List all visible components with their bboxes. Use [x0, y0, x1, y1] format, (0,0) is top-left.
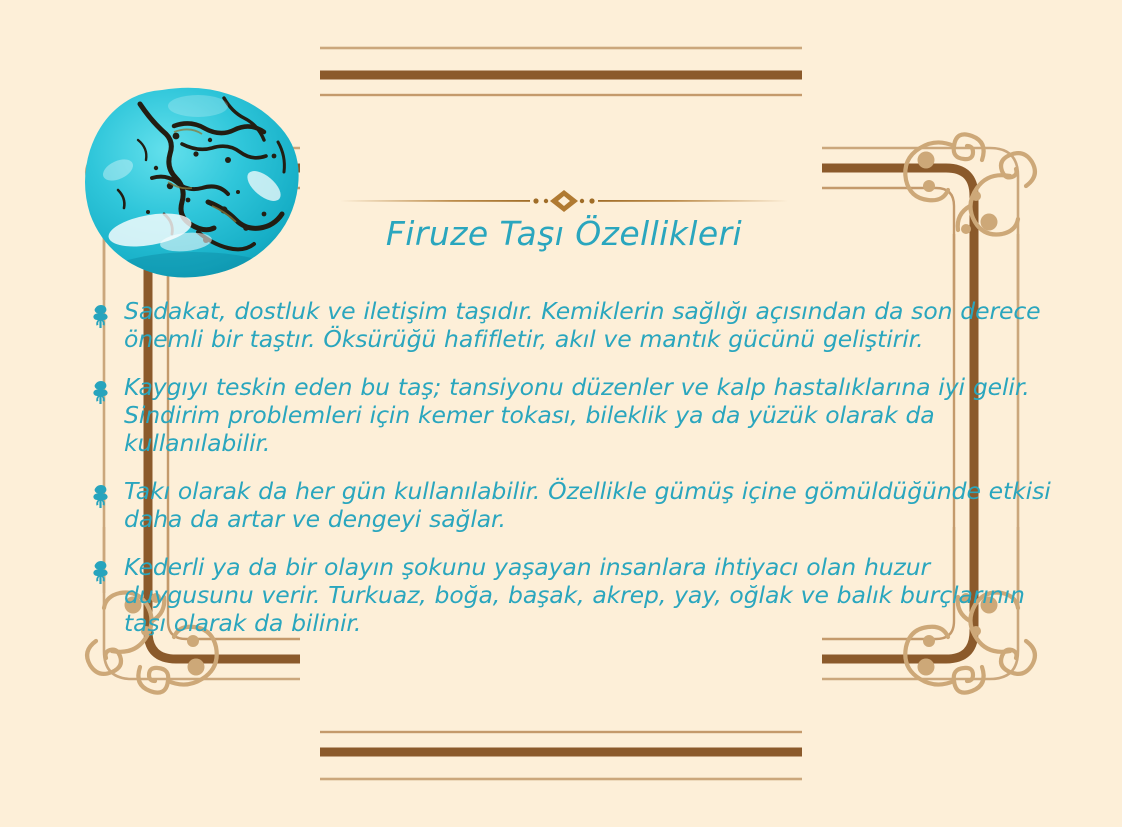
list-item-text: Takı olarak da her gün kullanılabilir. Ö…: [124, 478, 1058, 534]
list-item-text: Kaygıyı teskin eden bu taş; tansiyonu dü…: [124, 374, 1058, 458]
fleur-de-lis-icon: [88, 380, 114, 406]
firuze-stone-image: [78, 82, 310, 284]
info-card: Firuze Taşı Özellikleri Sadakat, dostluk…: [0, 0, 1122, 827]
list-item: Sadakat, dostluk ve iletişim taşıdır. Ke…: [88, 298, 1058, 354]
corner-ornament-top-right: [822, 134, 1035, 300]
list-item: Kederli ya da bir olayın şokunu yaşayan …: [88, 554, 1058, 638]
fleur-de-lis-icon: [88, 560, 114, 586]
list-item: Kaygıyı teskin eden bu taş; tansiyonu dü…: [88, 374, 1058, 458]
list-item-text: Kederli ya da bir olayın şokunu yaşayan …: [124, 554, 1058, 638]
fleur-de-lis-icon: [88, 484, 114, 510]
diamond-divider-ornament: [330, 188, 798, 214]
title-block: Firuze Taşı Özellikleri: [330, 188, 798, 252]
list-item: Takı olarak da her gün kullanılabilir. Ö…: [88, 478, 1058, 534]
page-title: Firuze Taşı Özellikleri: [330, 216, 798, 252]
fleur-de-lis-icon: [88, 304, 114, 330]
list-item-text: Sadakat, dostluk ve iletişim taşıdır. Ke…: [124, 298, 1058, 354]
content-list: Sadakat, dostluk ve iletişim taşıdır. Ke…: [88, 298, 1058, 638]
